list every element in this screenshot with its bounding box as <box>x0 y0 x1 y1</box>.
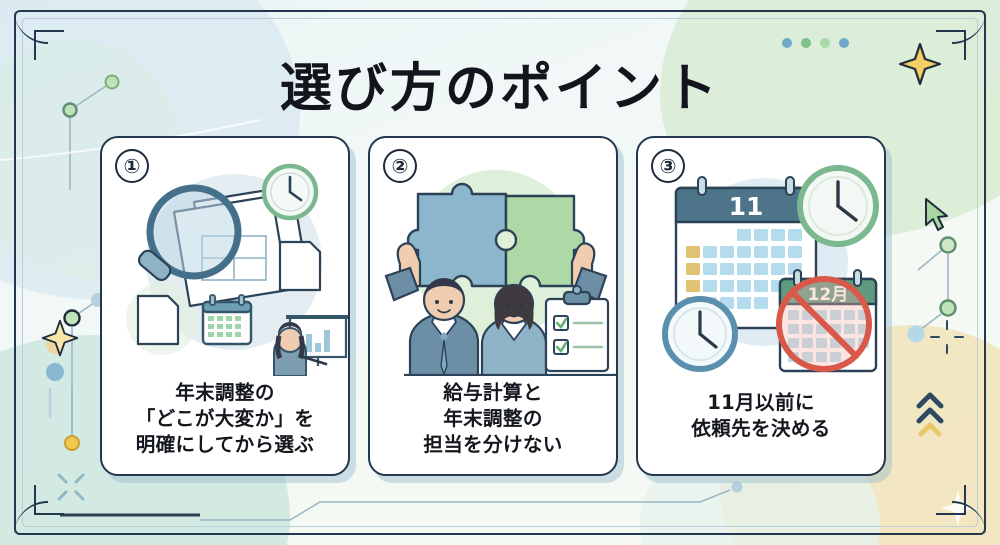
card-point-3[interactable]: ③ 11 <box>636 136 886 476</box>
slide-canvas: 選び方のポイント ① <box>0 0 1000 545</box>
card-caption: 年末調整の 「どこが大変か」を 明確にしてから選ぶ <box>110 380 340 458</box>
card-number-badge: ③ <box>651 149 685 183</box>
card-list: ① <box>100 136 886 476</box>
card-point-1[interactable]: ① <box>100 136 350 476</box>
calendar-month-label: 11 <box>729 192 764 221</box>
card-number-badge: ② <box>383 149 417 183</box>
card-point-2[interactable]: ② <box>368 136 618 476</box>
page-title: 選び方のポイント <box>0 46 1000 121</box>
prohibition-sign-icon <box>779 279 869 369</box>
card-caption: 11月以前に 依頼先を決める <box>646 390 876 442</box>
card-number-badge: ① <box>115 149 149 183</box>
card-caption: 給与計算と 年末調整の 担当を分けない <box>378 380 608 458</box>
